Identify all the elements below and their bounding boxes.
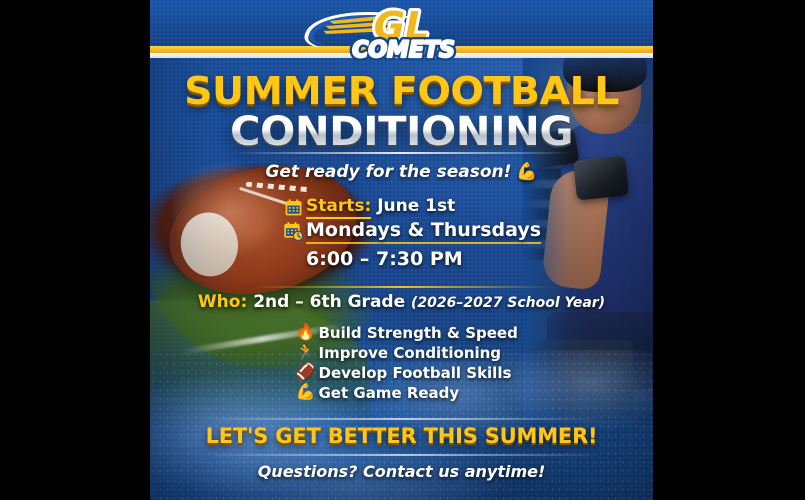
calendar-icon [280,198,306,217]
bicep-icon: 💪 [293,385,319,401]
starts-label: Starts: [306,196,371,219]
football-icon: 🏈 [293,365,319,381]
benefit-label: Get Game Ready [319,384,460,402]
letterbox-left [0,0,150,500]
list-item: 💪 Get Game Ready [293,384,511,402]
schedule-days-row: Mondays & Thursdays [150,219,653,244]
schedule-start-row: Starts: June 1st [150,196,653,219]
benefit-label: Improve Conditioning [319,344,502,362]
schedule-block: Starts: June 1st [150,196,653,270]
list-item: 🏃 Improve Conditioning [293,344,511,362]
title-line-2: CONDITIONING [150,112,653,152]
schedule-time-text: 6:00 – 7:30 PM [150,248,653,270]
schedule-start-text: Starts: June 1st [306,196,455,216]
schedule-days-text: Mondays & Thursdays [306,219,541,244]
cta-text: LET'S GET BETTER THIS SUMMER! [150,424,653,448]
letterbox-right [653,0,805,500]
summer-football-conditioning-flyer: GL GL COMETS COMETS SUMMER FOOTBALL COND… [150,0,653,500]
title-line-1: SUMMER FOOTBALL [150,72,653,110]
tagline: Get ready for the season!💪 [150,162,653,182]
benefits-list: 🔥 Build Strength & Speed 🏃 Improve Condi… [150,324,653,404]
divider-under-title [232,152,572,154]
poster-content: SUMMER FOOTBALL CONDITIONING Get ready f… [150,0,653,500]
who-row: Who: 2nd – 6th Grade (2026–2027 School Y… [150,292,653,312]
calendar-clock-icon [280,221,306,242]
who-school-year: (2026–2027 School Year) [411,295,605,311]
divider-above-who [252,286,552,288]
who-grades: 2nd – 6th Grade [253,292,405,312]
fire-icon: 🔥 [293,325,319,341]
list-item: 🔥 Build Strength & Speed [293,324,511,342]
list-item: 🏈 Develop Football Skills [293,364,511,382]
runner-icon: 🏃 [293,345,319,361]
divider-below-cta [204,454,599,456]
who-label: Who: [198,292,247,312]
tagline-text: Get ready for the season! [265,162,511,182]
bicep-icon: 💪 [516,162,537,182]
questions-text: Questions? Contact us anytime! [150,462,653,481]
screenshot-canvas: GL GL COMETS COMETS SUMMER FOOTBALL COND… [0,0,805,500]
divider-above-cta [204,418,599,420]
benefit-label: Build Strength & Speed [319,324,518,342]
starts-value: June 1st [377,196,455,216]
page-title: SUMMER FOOTBALL CONDITIONING [150,72,653,152]
benefit-label: Develop Football Skills [319,364,512,382]
